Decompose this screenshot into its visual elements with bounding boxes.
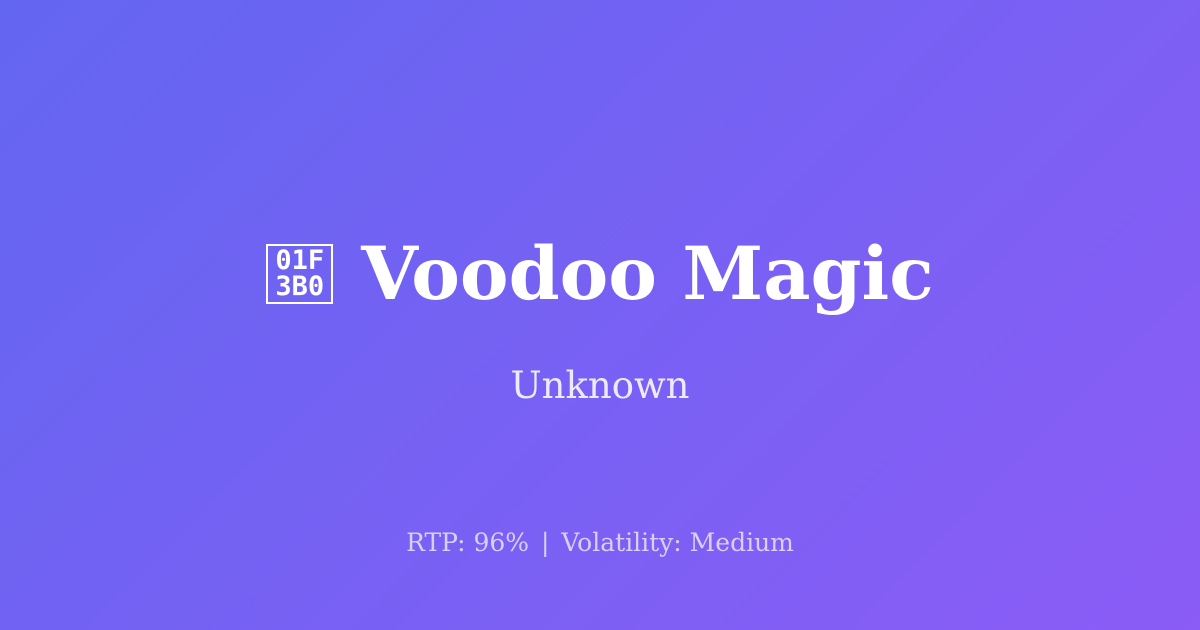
title-row: 01F 3B0 Voodoo Magic — [0, 228, 1200, 320]
tofu-codepoint-bottom: 3B0 — [275, 274, 324, 300]
game-stats: RTP: 96% | Volatility: Medium — [0, 528, 1200, 558]
og-preview-card: 01F 3B0 Voodoo Magic Unknown RTP: 96% | … — [0, 0, 1200, 630]
stats-separator: | — [537, 528, 553, 557]
rtp-value: RTP: 96% — [406, 528, 529, 557]
provider-label: Unknown — [0, 364, 1200, 408]
page-title: Voodoo Magic — [361, 234, 934, 314]
volatility-value: Volatility: Medium — [561, 528, 793, 557]
slot-machine-emoji-icon: 01F 3B0 — [266, 244, 333, 304]
